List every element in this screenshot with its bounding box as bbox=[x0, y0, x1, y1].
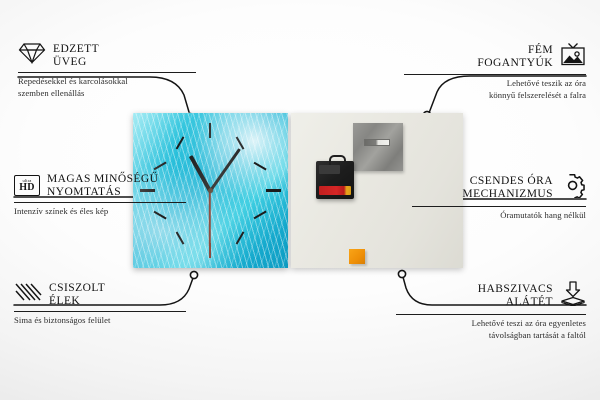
movement-top-detail bbox=[319, 165, 340, 174]
hour-marker-7 bbox=[176, 231, 185, 244]
title-rule bbox=[404, 74, 586, 75]
feature-metal-handles: FÉM FOGANTYÚK Lehetővé teszik az óra kön… bbox=[404, 42, 586, 101]
hour-marker-12 bbox=[209, 123, 211, 138]
hour-marker-6 bbox=[209, 243, 211, 258]
feature-description: Lehetővé teszi az óra egyenletes távolsá… bbox=[396, 318, 586, 341]
title-rule bbox=[396, 314, 586, 315]
hour-marker-10 bbox=[154, 161, 167, 170]
foam-pad-arrow-icon bbox=[560, 281, 586, 311]
hour-hand bbox=[189, 155, 212, 192]
metal-hanger-plate bbox=[353, 123, 403, 171]
gear-icon bbox=[560, 173, 586, 203]
infographic-canvas: EDZETT ÜVEG Repedésekkel és karcolásokka… bbox=[0, 0, 600, 400]
diamond-icon bbox=[18, 42, 46, 69]
second-hand bbox=[209, 191, 211, 247]
title-rule bbox=[14, 202, 186, 203]
feature-title: CSENDES ÓRA MECHANIZMUS bbox=[462, 175, 553, 201]
minute-hand bbox=[209, 148, 242, 193]
feature-title: EDZETT ÜVEG bbox=[53, 43, 99, 69]
title-rule bbox=[412, 206, 586, 207]
feature-title: CSISZOLT ÉLEK bbox=[49, 282, 105, 308]
feature-high-quality-print: ultra HD MAGAS MINŐSÉGŰ NYOMTATÁS Intenz… bbox=[14, 173, 186, 217]
feature-tempered-glass: EDZETT ÜVEG Repedésekkel és karcolásokka… bbox=[18, 42, 196, 99]
feature-foam-pad: HABSZIVACS ALÁTÉT Lehetővé teszi az óra … bbox=[396, 281, 586, 341]
wire-endpoint-foam-pad bbox=[398, 270, 405, 277]
title-rule bbox=[18, 72, 196, 73]
feature-title: FÉM FOGANTYÚK bbox=[477, 44, 553, 70]
feature-polished-edges: CSISZOLT ÉLEK Sima és biztonságos felüle… bbox=[14, 281, 186, 327]
feature-description: Intenzív színek és éles kép bbox=[14, 206, 186, 218]
feature-description: Lehetővé teszik az óra könnyű felszerelé… bbox=[404, 78, 586, 101]
silent-clock-movement bbox=[316, 161, 354, 199]
feature-title: MAGAS MINŐSÉGŰ NYOMTATÁS bbox=[47, 173, 158, 199]
hanger-slot bbox=[364, 139, 390, 146]
hour-marker-3 bbox=[266, 189, 281, 192]
hour-marker-4 bbox=[254, 210, 267, 219]
hour-marker-5 bbox=[236, 231, 245, 244]
polished-edges-icon bbox=[14, 281, 42, 308]
foam-spacer-pad bbox=[349, 249, 365, 264]
feature-title: HABSZIVACS ALÁTÉT bbox=[478, 283, 553, 309]
ultra-hd-icon: ultra HD bbox=[14, 175, 40, 196]
hour-marker-11 bbox=[176, 136, 185, 149]
wire-endpoint-polished-edges bbox=[190, 271, 197, 278]
wall-hanger-icon bbox=[560, 42, 586, 71]
title-rule bbox=[14, 311, 186, 312]
hour-marker-1 bbox=[236, 136, 245, 149]
clock-pivot bbox=[208, 188, 213, 193]
hour-marker-2 bbox=[254, 161, 267, 170]
feature-description: Repedésekkel és karcolásokkal szemben el… bbox=[18, 76, 196, 99]
feature-description: Óramutatók hang nélkül bbox=[412, 210, 586, 222]
feature-description: Sima és biztonságos felület bbox=[14, 315, 186, 327]
feature-silent-mechanism: CSENDES ÓRA MECHANIZMUS Óramutatók hang … bbox=[412, 173, 586, 222]
movement-battery bbox=[319, 186, 351, 195]
